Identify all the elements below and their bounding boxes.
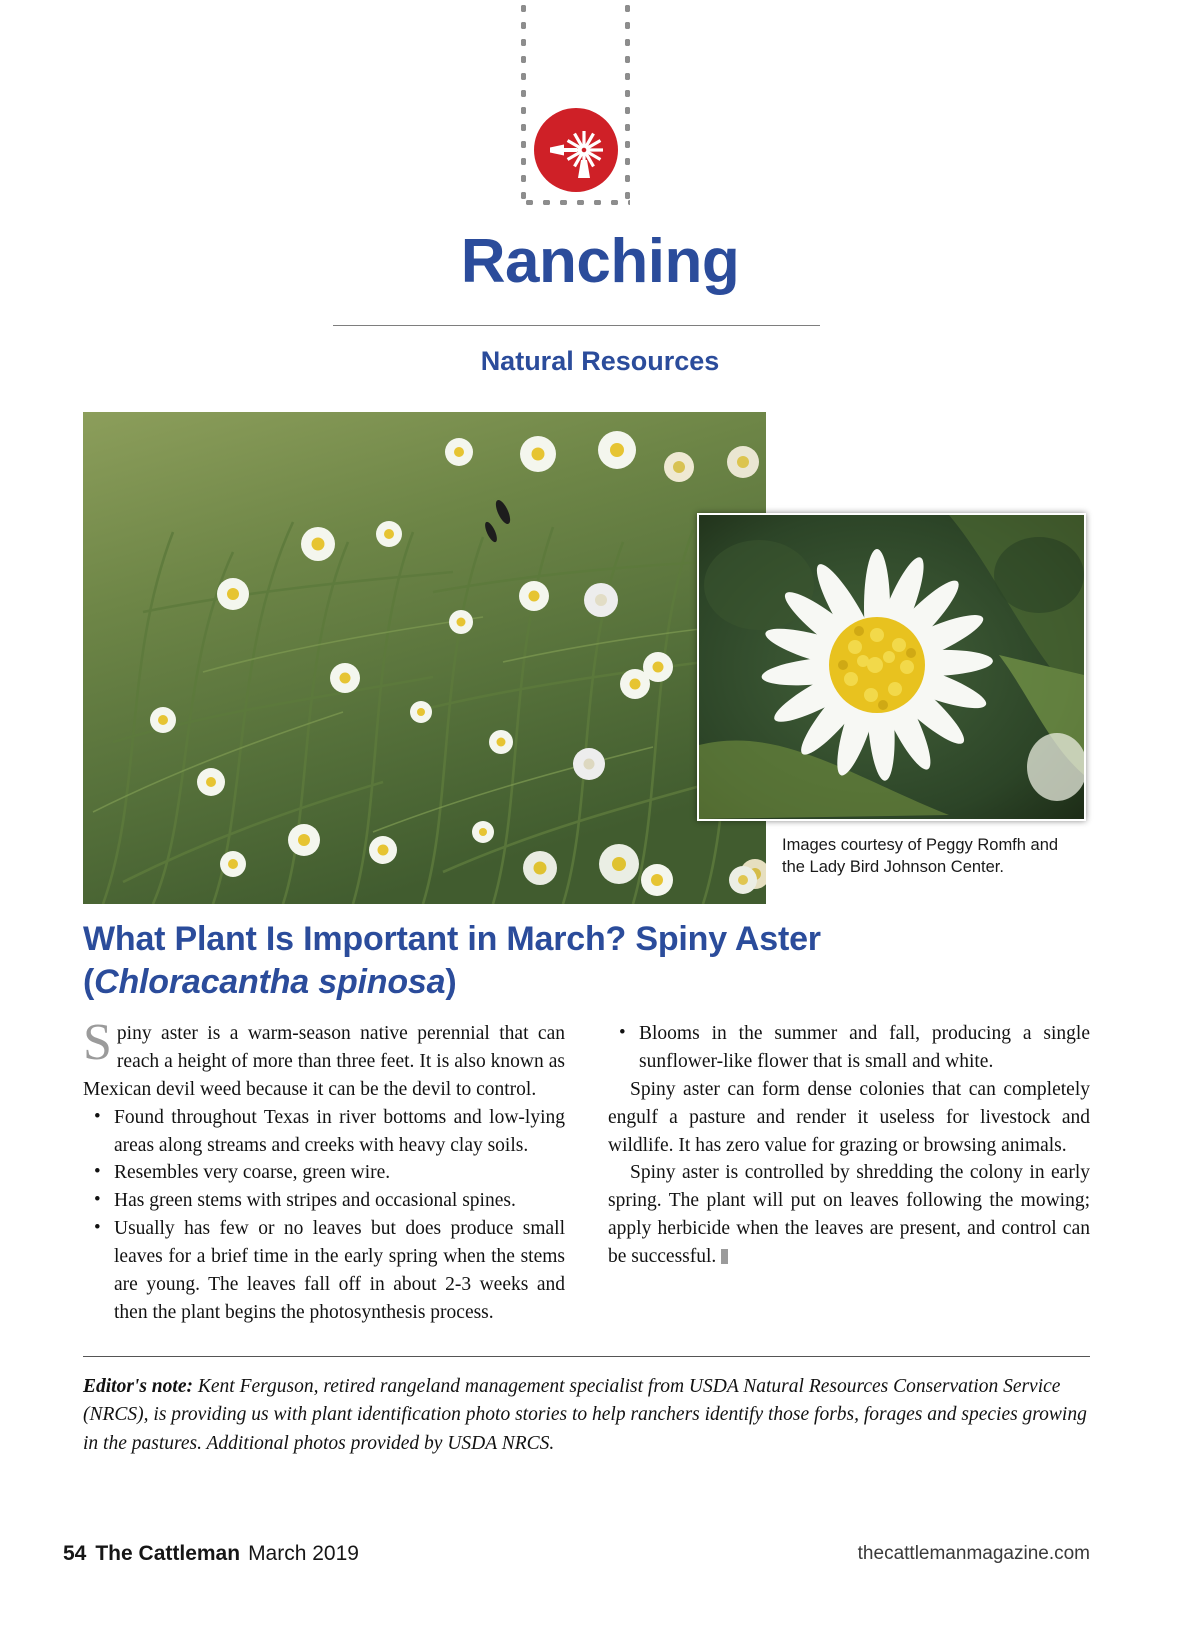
list-item: Has green stems with stripes and occasio…	[83, 1187, 565, 1215]
section-subtitle: Natural Resources	[0, 348, 1200, 375]
title-divider	[333, 325, 820, 326]
end-mark-icon	[721, 1249, 728, 1264]
main-photo	[83, 412, 766, 904]
photo-caption: Images courtesy of Peggy Romfh and the L…	[782, 834, 1082, 879]
dotted-rail-left	[521, 0, 526, 205]
editor-note-text: Kent Ferguson, retired rangeland managem…	[83, 1376, 1087, 1454]
website-url[interactable]: thecattlemanmagazine.com	[858, 1543, 1090, 1565]
photo-caption-line2: the Lady Bird Johnson Center.	[782, 858, 1004, 876]
magazine-name: The Cattleman	[95, 1542, 240, 1565]
masthead: Ranching Natural Resources	[0, 0, 1200, 400]
footer-left: 54The CattlemanMarch 2019	[63, 1542, 359, 1566]
feature-bullet-list: Found throughout Texas in river bottoms …	[83, 1104, 565, 1327]
windmill-icon	[534, 108, 618, 192]
list-item: Blooms in the summer and fall, producing…	[608, 1020, 1090, 1076]
list-item: Resembles very coarse, green wire.	[83, 1159, 565, 1187]
article-column-left: Spiny aster is a warm-season native pere…	[83, 1020, 565, 1327]
photo-caption-line1: Images courtesy of Peggy Romfh and	[782, 836, 1058, 854]
page-number: 54	[63, 1542, 86, 1565]
intro-paragraph: Spiny aster is a warm-season native pere…	[83, 1020, 565, 1104]
issue-date: March 2019	[248, 1542, 359, 1565]
magazine-page: Ranching Natural Resources	[0, 0, 1200, 1631]
control-paragraph-text: Spiny aster is controlled by shredding t…	[608, 1162, 1090, 1267]
dotted-rail-bottom	[521, 200, 630, 205]
list-item: Usually has few or no leaves but does pr…	[83, 1215, 565, 1327]
feature-bullet-list-continued: Blooms in the summer and fall, producing…	[608, 1020, 1090, 1076]
dotted-rail-right	[625, 0, 630, 205]
headline-paren-open: (	[83, 963, 94, 1001]
drop-cap: S	[83, 1022, 117, 1065]
editor-note-divider	[83, 1356, 1090, 1357]
headline-paren-close: )	[445, 963, 456, 1001]
inset-photo	[697, 513, 1086, 821]
colonies-paragraph: Spiny aster can form dense colonies that…	[608, 1076, 1090, 1160]
headline-scientific-name: Chloracantha spinosa	[94, 963, 445, 1001]
control-paragraph: Spiny aster is controlled by shredding t…	[608, 1159, 1090, 1271]
article-body: Spiny aster is a warm-season native pere…	[83, 1020, 1090, 1340]
intro-text: piny aster is a warm-season native peren…	[83, 1023, 565, 1100]
headline-main: What Plant Is Important in March? Spiny …	[83, 920, 821, 958]
list-item: Found throughout Texas in river bottoms …	[83, 1104, 565, 1160]
editor-note-label: Editor's note:	[83, 1376, 193, 1397]
article-column-right: Blooms in the summer and fall, producing…	[608, 1020, 1090, 1271]
editor-note: Editor's note: Kent Ferguson, retired ra…	[83, 1373, 1090, 1458]
page-title: Ranching	[0, 231, 1200, 293]
article-headline: What Plant Is Important in March? Spiny …	[83, 918, 1093, 1003]
